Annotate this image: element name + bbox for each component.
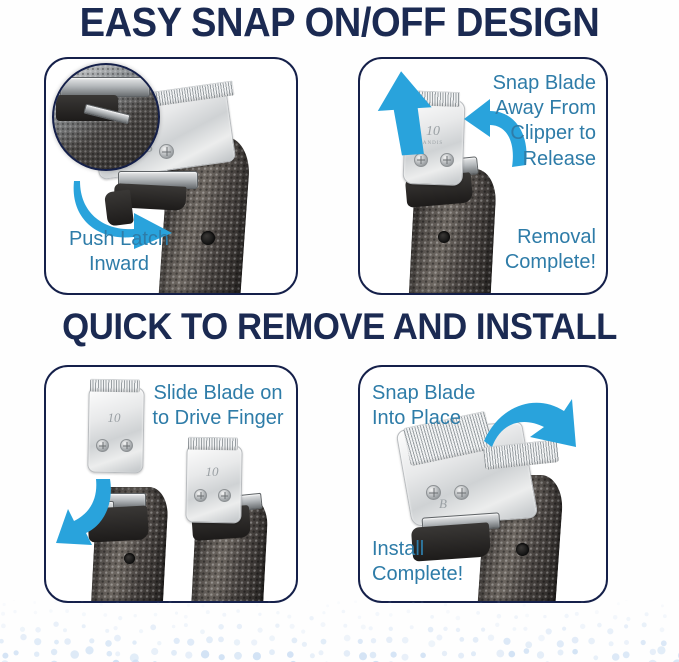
caption-push-latch: Push Latch Inward (54, 227, 184, 277)
blade-engraving-number: 10 (196, 465, 228, 478)
clipper-body-hole (201, 231, 215, 245)
caption-snap-away: Snap Blade Away From Clipper to Release (436, 71, 596, 172)
caption-snap-into-place: Snap Blade Into Place (372, 381, 522, 431)
blade-screw-right (454, 485, 469, 500)
caption-slide-blade: Slide Blade on to Drive Finger (144, 381, 292, 431)
panel-snap-away: 10 ANDIS Snap Blade Away From Clipper to… (358, 57, 608, 295)
attaching-blade-plate (185, 445, 242, 524)
curved-arrow-down-left-icon (54, 477, 124, 557)
blade-screw-right (218, 489, 231, 502)
latch-closeup-inset (52, 63, 160, 171)
blade-screw-right (159, 144, 174, 159)
attaching-blade-teeth (188, 437, 238, 451)
decorative-dot-pattern (0, 600, 679, 662)
clipper-body-hole (124, 553, 135, 564)
blade-screw-left (194, 489, 207, 502)
detached-blade-teeth (90, 379, 140, 393)
panel-snap-into-place: B Snap Blade Into Place Install Complete… (358, 365, 608, 603)
blade-engraving-number: 10 (98, 411, 130, 424)
panel-push-latch: 10 ANDIS B Push Latch Inward (44, 57, 298, 295)
caption-install-complete: Install Complete! (372, 537, 522, 587)
caption-removal-complete: Removal Complete! (436, 225, 596, 275)
detached-blade-plate (87, 387, 144, 474)
page-title-primary: EASY SNAP ON/OFF DESIGN (24, 2, 655, 43)
inset-latch-metal (60, 77, 150, 97)
blade-screw-right (120, 439, 133, 452)
blade-engraving-mark: B (432, 497, 454, 510)
page-title-secondary: QUICK TO REMOVE AND INSTALL (20, 308, 658, 345)
blade-screw-left (96, 439, 109, 452)
panel-slide-blade: 10 10 Slide Blade on to Drive Finger (44, 365, 298, 603)
up-arrow-icon (374, 69, 438, 157)
